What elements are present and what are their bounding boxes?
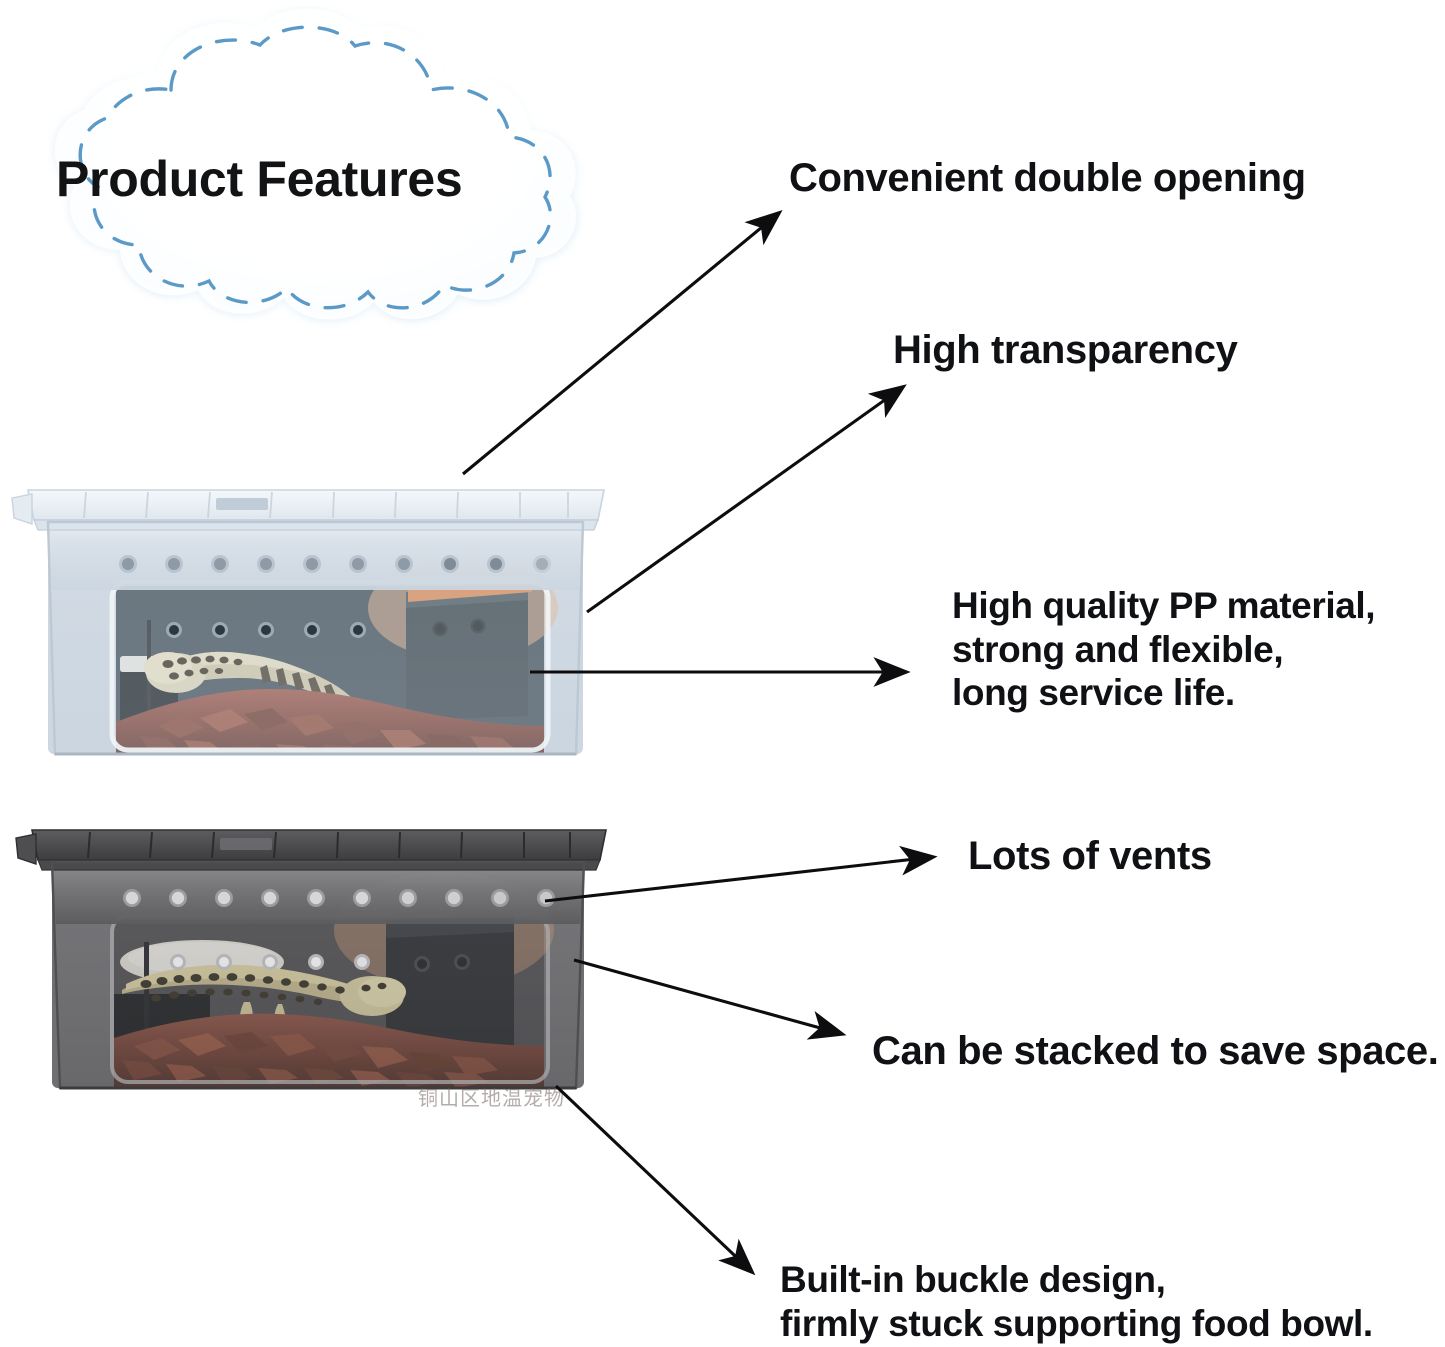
arrow-high-transparency	[587, 387, 903, 612]
page-title: Product Features	[56, 150, 462, 208]
product-image-clear-terrarium	[8, 468, 626, 788]
lid	[12, 490, 604, 530]
callout-high-transparency: High transparency	[893, 328, 1237, 373]
lid-latch	[220, 838, 272, 850]
callout-lots-of-vents: Lots of vents	[968, 834, 1212, 879]
cloud-banner: Product Features	[8, 6, 598, 336]
lid-latch	[216, 498, 268, 510]
arrow-buckle-design	[556, 1086, 752, 1272]
watermark-text: 铜山区地温宠物	[418, 1082, 565, 1111]
lid-side-tab	[12, 494, 32, 524]
product-image-smoke-terrarium	[14, 812, 626, 1112]
infographic-canvas: Product Features	[0, 0, 1445, 1347]
callout-buckle-design: Built-in buckle design, firmly stuck sup…	[780, 1258, 1373, 1345]
callout-stackable: Can be stacked to save space.	[872, 1029, 1438, 1074]
lid-side-tab	[16, 834, 36, 864]
callout-pp-material: High quality PP material, strong and fle…	[952, 584, 1375, 715]
callout-double-opening: Convenient double opening	[789, 156, 1306, 201]
lid	[16, 830, 606, 870]
